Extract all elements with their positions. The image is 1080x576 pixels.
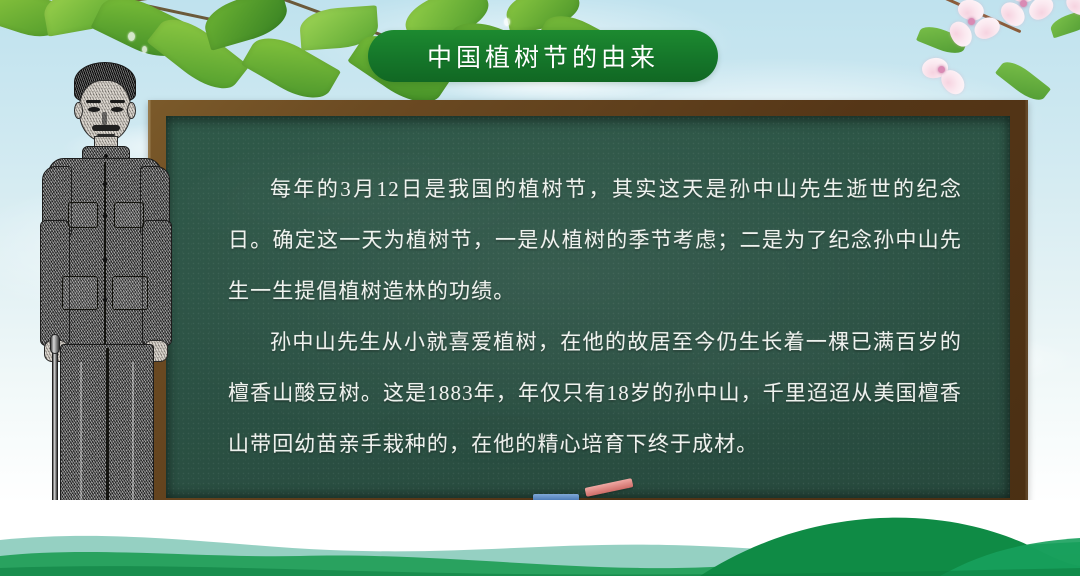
trouser-crease bbox=[132, 362, 134, 520]
portrait-eyebrow bbox=[86, 100, 101, 103]
paragraph: 每年的3月12日是我国的植树节，其实这天是孙中山先生逝世的纪念日。确定这一天为植… bbox=[228, 164, 962, 317]
portrait-eye bbox=[88, 107, 100, 112]
jacket-hip-pocket bbox=[62, 276, 98, 310]
paragraph: 孙中山先生从小就喜爱植树，在他的故居至今仍生长着一棵已满百岁的檀香山酸豆树。这是… bbox=[228, 317, 962, 470]
trouser-crease bbox=[80, 362, 82, 520]
portrait-nose bbox=[102, 112, 107, 125]
sun-yat-sen-portrait bbox=[24, 62, 184, 562]
jacket-hip-pocket bbox=[112, 276, 148, 310]
blackboard-surface: 每年的3月12日是我国的植树节，其实这天是孙中山先生逝世的纪念日。确定这一天为植… bbox=[166, 116, 1010, 498]
page-title-banner: 中国植树节的由来 bbox=[368, 30, 718, 82]
trouser-seam bbox=[106, 348, 109, 524]
bottom-wave-decoration bbox=[0, 506, 1080, 576]
blossom-leaf bbox=[995, 56, 1051, 107]
portrait-eyebrow bbox=[110, 100, 125, 103]
blossom-center bbox=[968, 18, 975, 25]
blackboard: 每年的3月12日是我国的植树节，其实这天是孙中山先生逝世的纪念日。确定这一天为植… bbox=[148, 100, 1028, 532]
portrait-eye bbox=[111, 107, 123, 112]
jacket-chest-pocket bbox=[68, 202, 98, 228]
blossom-center bbox=[1020, 0, 1027, 7]
jacket-chest-pocket bbox=[114, 202, 144, 228]
portrait-ear bbox=[127, 102, 136, 119]
portrait-moustache bbox=[92, 125, 120, 131]
blossom-center bbox=[938, 66, 945, 73]
portrait-face bbox=[79, 80, 131, 142]
jacket-placket bbox=[104, 162, 106, 346]
jacket-button bbox=[103, 214, 107, 218]
cane-handle bbox=[50, 334, 60, 354]
jacket-button bbox=[103, 298, 107, 302]
blossom-petal bbox=[1025, 0, 1058, 24]
jacket-button bbox=[103, 258, 107, 262]
page-title: 中国植树节的由来 bbox=[427, 38, 659, 74]
blackboard-body-text: 每年的3月12日是我国的植树节，其实这天是孙中山先生逝世的纪念日。确定这一天为植… bbox=[228, 164, 962, 470]
slide-canvas: 中国植树节的由来 每年的3月12日是我国的植树节，其实这天是孙中山先生逝世的纪念… bbox=[0, 0, 1080, 576]
jacket-button bbox=[103, 182, 107, 186]
portrait-ear bbox=[74, 102, 83, 119]
